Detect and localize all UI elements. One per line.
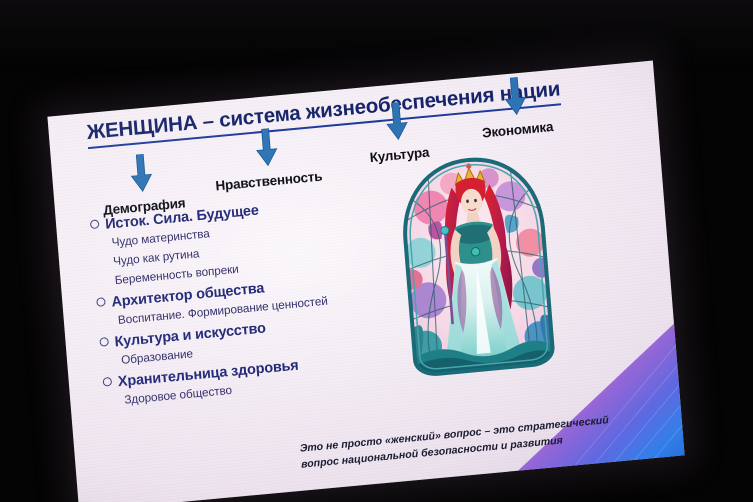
projection-room: ЖЕНЩИНА – система жизнеобеспечения нации… <box>0 0 753 502</box>
room-wall-top <box>0 0 753 70</box>
down-arrow-icon <box>127 153 156 198</box>
category-ekonomika: Экономика <box>478 74 554 140</box>
down-arrow-icon <box>252 127 281 172</box>
category-kultura: Культура <box>366 100 430 165</box>
category-label: Нравственность <box>215 169 323 194</box>
projected-slide-wrapper: ЖЕНЩИНА – система жизнеобеспечения нации… <box>47 61 684 502</box>
bullet-list: Исток. Сила. Будущее Чудо материнства Чу… <box>90 190 410 416</box>
corner-gradient-decoration <box>494 315 684 482</box>
category-label: Экономика <box>482 119 554 141</box>
bullet-circle-icon <box>96 297 106 307</box>
down-arrow-icon <box>500 76 529 121</box>
category-nravstvennost: Нравственность <box>211 124 323 194</box>
presentation-slide: ЖЕНЩИНА – система жизнеобеспечения нации… <box>47 61 684 502</box>
bullet-circle-icon <box>103 377 113 387</box>
down-arrow-icon <box>382 101 411 146</box>
bullet-circle-icon <box>99 337 109 347</box>
bullet-circle-icon <box>90 219 100 229</box>
category-demografiya: Демография <box>99 151 186 218</box>
